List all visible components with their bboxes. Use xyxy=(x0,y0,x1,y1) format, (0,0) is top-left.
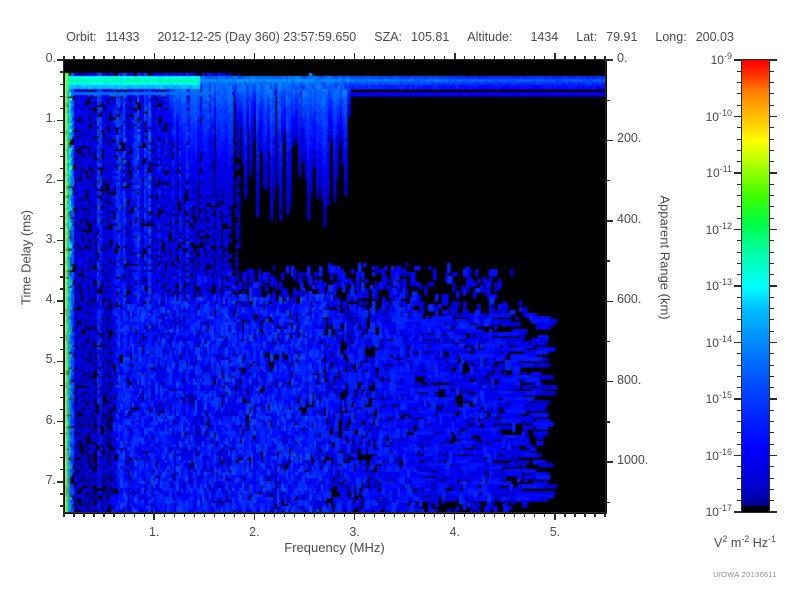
y2-tick-label: 1000. xyxy=(617,453,677,467)
colorbar-tick-minor xyxy=(737,195,742,196)
x-tick-top-minor xyxy=(534,56,535,60)
colorbar-tick-minor xyxy=(769,376,774,377)
x-tick-minor xyxy=(374,513,375,517)
y-tick-minor xyxy=(60,493,64,494)
colorbar-tick-minor xyxy=(769,82,774,83)
colorbar-tick-major xyxy=(734,285,742,286)
y2-tick-minor xyxy=(606,180,610,181)
colorbar-tick-minor xyxy=(769,432,774,433)
x-tick-top-minor xyxy=(103,56,104,60)
x-tick-top-minor xyxy=(314,56,315,60)
colorbar-tick-minor xyxy=(769,478,774,479)
x-tick-top-major xyxy=(454,53,455,60)
colorbar-tick-minor xyxy=(769,274,774,275)
x-tick-top-minor xyxy=(584,56,585,60)
x-tick-top-minor xyxy=(204,56,205,60)
x-tick-top-minor xyxy=(224,56,225,60)
x-tick-minor xyxy=(584,513,585,517)
x-tick-top-minor xyxy=(474,56,475,60)
y-tick-minor xyxy=(60,264,64,265)
colorbar-tick-major xyxy=(769,59,777,60)
x-tick-top-minor xyxy=(164,56,165,60)
colorbar-tick-major xyxy=(734,59,742,60)
colorbar-tick-label: 10-14 xyxy=(680,334,732,350)
x-tick-minor xyxy=(314,513,315,517)
long-value: 200.03 xyxy=(696,30,734,44)
y2-tick-minor xyxy=(606,421,610,422)
x-tick-top-minor xyxy=(194,56,195,60)
x-tick-top-minor xyxy=(124,56,125,60)
x-tick-top-minor xyxy=(73,56,74,60)
x-tick-top-minor xyxy=(574,56,575,60)
axis-line-top xyxy=(64,59,607,60)
x-tick-minor xyxy=(124,513,125,517)
lat-value: 79.91 xyxy=(606,30,637,44)
x-tick-major xyxy=(254,513,255,520)
x-tick-minor xyxy=(83,513,84,517)
colorbar-tick-minor xyxy=(737,240,742,241)
colorbar-tick-minor xyxy=(769,127,774,128)
colorbar-tick-label: 10-13 xyxy=(680,277,732,293)
colorbar xyxy=(742,60,769,512)
colorbar-tick-minor xyxy=(769,240,774,241)
x-tick-minor xyxy=(324,513,325,517)
x-tick-top-minor xyxy=(414,56,415,60)
colorbar-tick-minor xyxy=(769,195,774,196)
x-tick-top-major xyxy=(354,53,355,60)
colorbar-tick-minor xyxy=(737,376,742,377)
x-tick-top-minor xyxy=(93,56,94,60)
colorbar-tick-minor xyxy=(737,206,742,207)
x-tick-top-minor xyxy=(264,56,265,60)
colorbar-tick-minor xyxy=(737,489,742,490)
x-tick-minor xyxy=(534,513,535,517)
colorbar-tick-minor xyxy=(737,150,742,151)
y-tick-minor xyxy=(60,385,64,386)
x-tick-top-minor xyxy=(404,56,405,60)
x-tick-top-minor xyxy=(374,56,375,60)
y-tick-label: 6. xyxy=(18,413,56,427)
colorbar-tick-minor xyxy=(737,432,742,433)
colorbar-tick-minor xyxy=(769,500,774,501)
y-tick-minor xyxy=(60,156,64,157)
y2-tick-label: 800. xyxy=(617,373,677,387)
y-tick-minor xyxy=(60,71,64,72)
x-tick-minor xyxy=(524,513,525,517)
spectrogram-plot-area xyxy=(64,60,607,514)
x-tick-minor xyxy=(594,513,595,517)
y2-tick-minor xyxy=(606,502,610,503)
x-tick-top-major xyxy=(554,53,555,60)
y2-tick-major xyxy=(606,140,613,141)
colorbar-tick-minor xyxy=(769,297,774,298)
x-tick-top-minor xyxy=(594,56,595,60)
y2-tick-minor xyxy=(606,100,610,101)
colorbar-tick-minor xyxy=(769,387,774,388)
x-tick-minor xyxy=(404,513,405,517)
x-tick-minor xyxy=(564,513,565,517)
x-tick-label: 1. xyxy=(129,525,179,539)
colorbar-tick-major xyxy=(734,229,742,230)
colorbar-tick-minor xyxy=(769,444,774,445)
y-tick-minor xyxy=(60,325,64,326)
y-tick-major xyxy=(57,481,64,482)
colorbar-tick-minor xyxy=(737,500,742,501)
y2-tick-major xyxy=(606,301,613,302)
x-tick-minor xyxy=(274,513,275,517)
colorbar-tick-minor xyxy=(737,263,742,264)
orbit-value: 11433 xyxy=(106,30,140,44)
y-tick-minor xyxy=(60,96,64,97)
colorbar-tick-minor xyxy=(769,150,774,151)
y-tick-minor xyxy=(60,433,64,434)
x-tick-minor xyxy=(63,513,64,517)
colorbar-tick-minor xyxy=(737,466,742,467)
colorbar-tick-minor xyxy=(769,263,774,264)
x-tick-top-minor xyxy=(434,56,435,60)
colorbar-tick-major xyxy=(734,116,742,117)
x-tick-minor xyxy=(464,513,465,517)
y2-tick-major xyxy=(606,381,613,382)
colorbar-tick-major xyxy=(734,511,742,512)
colorbar-tick-minor xyxy=(769,353,774,354)
x-tick-top-major xyxy=(154,53,155,60)
x-tick-top-minor xyxy=(234,56,235,60)
x-tick-top-minor xyxy=(524,56,525,60)
colorbar-tick-minor xyxy=(737,410,742,411)
colorbar-tick-minor xyxy=(769,184,774,185)
y-tick-major xyxy=(57,421,64,422)
colorbar-tick-minor xyxy=(769,161,774,162)
colorbar-tick-minor xyxy=(737,274,742,275)
x-axis-title: Frequency (MHz) xyxy=(64,540,605,555)
y-tick-label: 2. xyxy=(18,172,56,186)
colorbar-tick-major xyxy=(769,172,777,173)
colorbar-tick-minor xyxy=(737,93,742,94)
colorbar-tick-major xyxy=(734,398,742,399)
x-tick-top-minor xyxy=(144,56,145,60)
x-tick-top-minor xyxy=(494,56,495,60)
x-tick-minor xyxy=(414,513,415,517)
y2-tick-minor xyxy=(606,260,610,261)
x-tick-minor xyxy=(103,513,104,517)
y-tick-minor xyxy=(60,349,64,350)
x-tick-top-minor xyxy=(304,56,305,60)
y-tick-minor xyxy=(60,144,64,145)
colorbar-tick-label: 10-15 xyxy=(680,390,732,406)
y-axis-title: Time Delay (ms) xyxy=(19,188,34,328)
colorbar-tick-minor xyxy=(769,319,774,320)
colorbar-tick-minor xyxy=(737,161,742,162)
y-tick-minor xyxy=(60,108,64,109)
colorbar-tick-label: 10-16 xyxy=(680,447,732,463)
colorbar-tick-label: 10-17 xyxy=(680,503,732,519)
y-tick-minor xyxy=(60,397,64,398)
colorbar-tick-minor xyxy=(737,308,742,309)
x-tick-minor xyxy=(504,513,505,517)
y2-axis-title: Apparent Range (km) xyxy=(658,178,673,338)
x-tick-major xyxy=(354,513,355,520)
x-tick-top-minor xyxy=(134,56,135,60)
colorbar-gradient xyxy=(742,60,769,512)
y-tick-minor xyxy=(60,505,64,506)
colorbar-tick-minor xyxy=(737,184,742,185)
y-tick-major xyxy=(57,300,64,301)
x-tick-top-minor xyxy=(174,56,175,60)
colorbar-tick-minor xyxy=(769,466,774,467)
y-tick-minor xyxy=(60,409,64,410)
colorbar-tick-minor xyxy=(737,297,742,298)
colorbar-tick-minor xyxy=(737,353,742,354)
x-tick-minor xyxy=(244,513,245,517)
x-tick-major xyxy=(554,513,555,520)
y2-tick-major xyxy=(606,220,613,221)
colorbar-tick-minor xyxy=(769,365,774,366)
colorbar-tick-minor xyxy=(737,365,742,366)
x-tick-minor xyxy=(424,513,425,517)
colorbar-tick-minor xyxy=(737,319,742,320)
x-tick-minor xyxy=(214,513,215,517)
x-tick-minor xyxy=(334,513,335,517)
y2-tick-major xyxy=(606,461,613,462)
x-tick-top-minor xyxy=(324,56,325,60)
colorbar-tick-minor xyxy=(769,206,774,207)
x-tick-top-minor xyxy=(334,56,335,60)
y-tick-major xyxy=(57,120,64,121)
colorbar-tick-major xyxy=(769,398,777,399)
colorbar-tick-minor xyxy=(769,331,774,332)
x-tick-top-minor xyxy=(214,56,215,60)
x-tick-top-minor xyxy=(274,56,275,60)
x-tick-major xyxy=(153,513,154,520)
x-tick-label: 5. xyxy=(530,525,580,539)
colorbar-tick-label: 10-11 xyxy=(680,164,732,180)
colorbar-tick-label: 10-9 xyxy=(680,51,732,67)
colorbar-tick-minor xyxy=(737,127,742,128)
x-tick-top-minor xyxy=(444,56,445,60)
x-tick-minor xyxy=(434,513,435,517)
colorbar-tick-minor xyxy=(769,218,774,219)
colorbar-tick-major xyxy=(734,455,742,456)
x-tick-top-minor xyxy=(604,56,605,60)
x-tick-top-minor xyxy=(63,56,64,60)
x-tick-top-minor xyxy=(244,56,245,60)
y-tick-minor xyxy=(60,84,64,85)
colorbar-tick-minor xyxy=(737,421,742,422)
y-tick-minor xyxy=(60,216,64,217)
colorbar-tick-minor xyxy=(769,252,774,253)
x-tick-minor xyxy=(264,513,265,517)
x-tick-minor xyxy=(604,513,605,517)
y-tick-label: 7. xyxy=(18,473,56,487)
colorbar-tick-minor xyxy=(769,139,774,140)
x-tick-top-minor xyxy=(394,56,395,60)
x-tick-top-minor xyxy=(484,56,485,60)
colorbar-tick-major xyxy=(734,172,742,173)
colorbar-tick-minor xyxy=(737,387,742,388)
x-tick-minor xyxy=(184,513,185,517)
x-tick-minor xyxy=(194,513,195,517)
y-tick-major xyxy=(57,361,64,362)
colorbar-tick-minor xyxy=(737,105,742,106)
y-tick-minor xyxy=(60,252,64,253)
y2-tick-label: 0. xyxy=(617,51,677,65)
y2-tick-label: 200. xyxy=(617,131,677,145)
y-tick-minor xyxy=(60,228,64,229)
observation-datetime: 2012-12-25 (Day 360) 23:57:59.650 xyxy=(157,30,356,44)
x-tick-minor xyxy=(474,513,475,517)
x-tick-top-minor xyxy=(284,56,285,60)
x-tick-minor xyxy=(394,513,395,517)
x-tick-top-minor xyxy=(514,56,515,60)
colorbar-tick-minor xyxy=(769,308,774,309)
y-tick-minor xyxy=(60,288,64,289)
y-tick-minor xyxy=(60,373,64,374)
x-tick-minor xyxy=(234,513,235,517)
axis-line-bottom xyxy=(64,512,607,513)
spectrogram-canvas xyxy=(65,61,606,513)
y-tick-minor xyxy=(60,469,64,470)
x-tick-top-minor xyxy=(113,56,114,60)
x-tick-top-major xyxy=(254,53,255,60)
x-tick-major xyxy=(454,513,455,520)
axis-line-right xyxy=(605,59,606,513)
colorbar-tick-minor xyxy=(737,252,742,253)
y-tick-minor xyxy=(60,457,64,458)
ionogram-figure: Orbit:114332012-12-25 (Day 360) 23:57:59… xyxy=(0,0,800,600)
x-tick-minor xyxy=(294,513,295,517)
colorbar-tick-label: 10-12 xyxy=(680,221,732,237)
x-tick-top-minor xyxy=(564,56,565,60)
x-tick-minor xyxy=(344,513,345,517)
header-metadata: Orbit:114332012-12-25 (Day 360) 23:57:59… xyxy=(0,30,800,44)
x-tick-top-minor xyxy=(504,56,505,60)
colorbar-tick-major xyxy=(769,229,777,230)
x-tick-minor xyxy=(113,513,114,517)
colorbar-tick-minor xyxy=(769,489,774,490)
colorbar-tick-minor xyxy=(769,421,774,422)
x-tick-minor xyxy=(144,513,145,517)
sza-label: SZA: xyxy=(374,30,402,44)
x-tick-minor xyxy=(134,513,135,517)
colorbar-tick-major xyxy=(769,285,777,286)
y-tick-major xyxy=(57,240,64,241)
x-tick-minor xyxy=(494,513,495,517)
x-tick-top-minor xyxy=(184,56,185,60)
y-tick-major xyxy=(57,180,64,181)
y-tick-minor xyxy=(60,313,64,314)
x-tick-minor xyxy=(93,513,94,517)
colorbar-tick-minor xyxy=(737,139,742,140)
colorbar-tick-major xyxy=(734,342,742,343)
colorbar-tick-minor xyxy=(737,444,742,445)
colorbar-tick-minor xyxy=(737,71,742,72)
x-tick-minor xyxy=(444,513,445,517)
colorbar-tick-minor xyxy=(769,93,774,94)
x-tick-label: 2. xyxy=(229,525,279,539)
x-tick-minor xyxy=(164,513,165,517)
colorbar-tick-major xyxy=(769,342,777,343)
colorbar-tick-minor xyxy=(769,410,774,411)
colorbar-tick-minor xyxy=(737,218,742,219)
y-tick-minor xyxy=(60,276,64,277)
credit-text: UIOWA 20130611 xyxy=(690,570,800,579)
colorbar-tick-minor xyxy=(769,71,774,72)
x-tick-minor xyxy=(284,513,285,517)
colorbar-tick-major xyxy=(769,511,777,512)
colorbar-tick-major xyxy=(769,116,777,117)
sza-value: 105.81 xyxy=(411,30,449,44)
colorbar-tick-major xyxy=(769,455,777,456)
x-tick-minor xyxy=(204,513,205,517)
y-tick-minor xyxy=(60,168,64,169)
altitude-value: 1434 xyxy=(530,30,558,44)
x-tick-top-minor xyxy=(464,56,465,60)
colorbar-unit-label: V2 m-2 Hz-1 xyxy=(690,534,800,550)
x-tick-minor xyxy=(574,513,575,517)
y2-tick-minor xyxy=(606,341,610,342)
x-tick-minor xyxy=(544,513,545,517)
altitude-label: Altitude: xyxy=(467,30,512,44)
x-tick-minor xyxy=(224,513,225,517)
colorbar-tick-minor xyxy=(737,478,742,479)
y-tick-minor xyxy=(60,445,64,446)
y-tick-label: 1. xyxy=(18,111,56,125)
x-tick-top-minor xyxy=(364,56,365,60)
x-tick-minor xyxy=(364,513,365,517)
long-label: Long: xyxy=(655,30,686,44)
colorbar-tick-minor xyxy=(769,105,774,106)
x-tick-minor xyxy=(384,513,385,517)
x-tick-minor xyxy=(304,513,305,517)
y-tick-minor xyxy=(60,132,64,133)
colorbar-tick-minor xyxy=(737,331,742,332)
x-tick-top-minor xyxy=(544,56,545,60)
colorbar-tick-label: 10-10 xyxy=(680,108,732,124)
y-tick-label: 5. xyxy=(18,352,56,366)
colorbar-tick-minor xyxy=(737,82,742,83)
x-tick-top-minor xyxy=(384,56,385,60)
x-tick-minor xyxy=(484,513,485,517)
x-tick-top-minor xyxy=(344,56,345,60)
x-tick-label: 3. xyxy=(330,525,380,539)
y-tick-label: 0. xyxy=(18,51,56,65)
y-tick-minor xyxy=(60,337,64,338)
x-tick-top-minor xyxy=(424,56,425,60)
y-tick-minor xyxy=(60,204,64,205)
lat-label: Lat: xyxy=(576,30,597,44)
x-tick-label: 4. xyxy=(430,525,480,539)
y-tick-minor xyxy=(60,192,64,193)
x-tick-minor xyxy=(73,513,74,517)
x-tick-top-minor xyxy=(294,56,295,60)
x-tick-minor xyxy=(174,513,175,517)
y2-tick-major xyxy=(606,59,613,60)
x-tick-minor xyxy=(514,513,515,517)
orbit-label: Orbit: xyxy=(66,30,97,44)
x-tick-top-minor xyxy=(83,56,84,60)
